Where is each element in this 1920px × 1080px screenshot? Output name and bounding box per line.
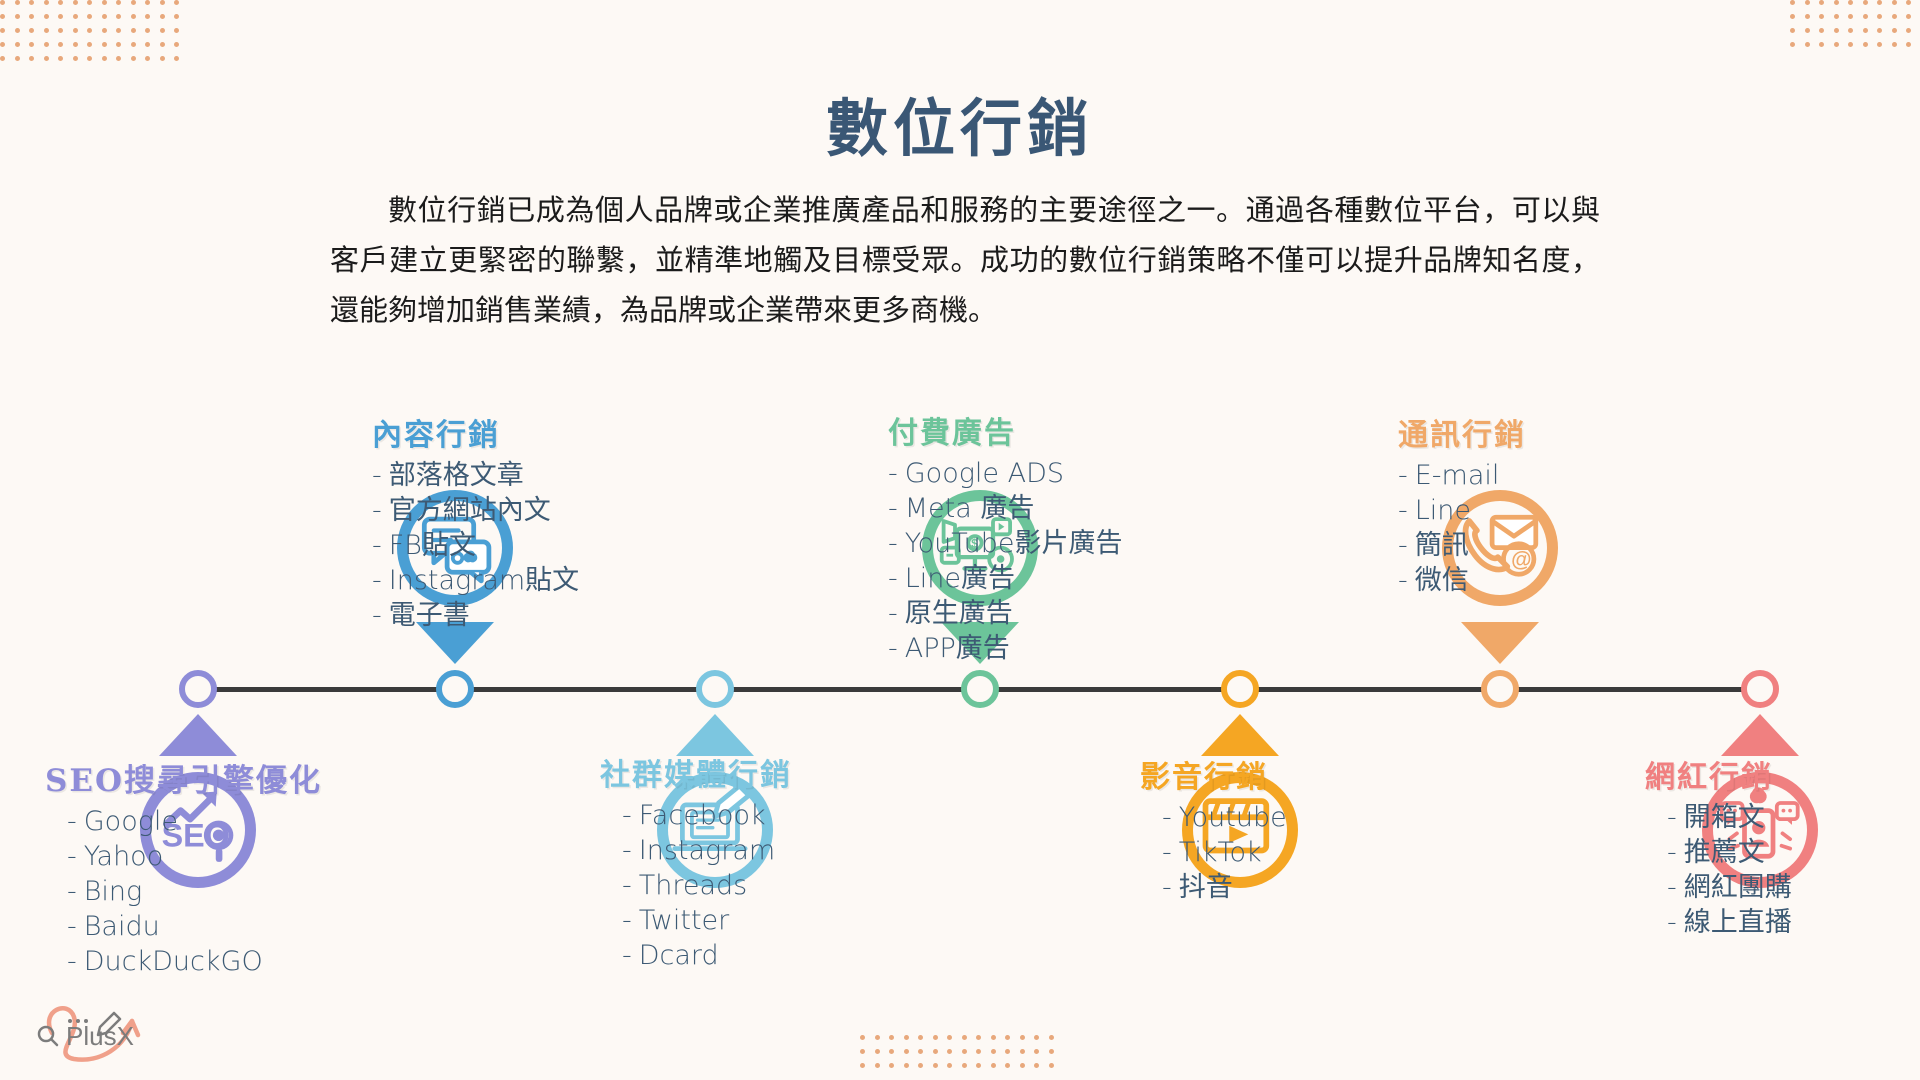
decorative-dot	[44, 0, 49, 5]
decorative-dot	[116, 42, 121, 47]
bullet-dash: -	[372, 460, 382, 491]
decorative-dot	[44, 42, 49, 47]
node-list-seo: -Google-Yahoo-Bing-Baidu-DuckDuckGO	[45, 804, 322, 979]
node-block-paid: 付費廣告-Google ADS-Meta 廣告-YouTube影片廣告-Line…	[888, 408, 1123, 666]
node-heading-influencer: 網紅行銷	[1645, 752, 1792, 796]
list-item: -TikTok	[1162, 835, 1287, 870]
list-item-label: Baidu	[84, 911, 160, 942]
decorative-dot	[1819, 28, 1824, 33]
list-item: -原生廣告	[888, 596, 1123, 631]
bullet-dash: -	[372, 565, 382, 596]
decorative-dot	[102, 42, 107, 47]
node-block-content: 內容行銷-部落格文章-官方網站內文-FB貼文-Instagram貼文-電子書	[372, 410, 579, 633]
decorative-dot	[1805, 28, 1810, 33]
decorative-dot	[44, 56, 49, 61]
list-item-label: 線上直播	[1684, 907, 1792, 938]
decorative-dot	[102, 28, 107, 33]
decorative-dot	[904, 1063, 909, 1068]
decorative-dot	[44, 28, 49, 33]
list-item-label: DuckDuckGO	[84, 946, 263, 977]
decorative-dot	[145, 28, 150, 33]
decorative-dot	[87, 14, 92, 19]
decorative-dot	[58, 28, 63, 33]
pluxs-logo: PlusX	[22, 985, 162, 1065]
list-item: -Google ADS	[888, 456, 1123, 491]
list-item: -抖音	[1162, 870, 1287, 905]
decorative-dot	[44, 14, 49, 19]
decorative-dot	[1834, 28, 1839, 33]
decorative-dot	[160, 42, 165, 47]
bullet-dash: -	[622, 835, 632, 866]
decorative-dot	[1020, 1049, 1025, 1054]
decorative-dot	[58, 56, 63, 61]
decorative-dot	[0, 42, 5, 47]
decorative-dot	[174, 28, 179, 33]
decorative-dot	[991, 1063, 996, 1068]
list-item-label: Bing	[84, 876, 143, 907]
decorative-dot	[1863, 0, 1868, 5]
list-item-label: 開箱文	[1684, 802, 1765, 833]
bullet-dash: -	[67, 876, 77, 907]
list-item-label: Facebook	[639, 800, 766, 831]
node-heading-video: 影音行銷	[1140, 752, 1287, 796]
node-heading-content: 內容行銷	[372, 410, 579, 454]
decorative-dot	[1906, 42, 1911, 47]
decorative-dot	[73, 0, 78, 5]
bullet-dash: -	[372, 530, 382, 561]
page-title: 數位行銷	[0, 78, 1920, 168]
decorative-dot	[174, 56, 179, 61]
list-item-label: 抖音	[1179, 872, 1233, 903]
axis-dot-paid[interactable]	[961, 670, 999, 708]
decorative-dot	[1819, 0, 1824, 5]
decorative-dot	[87, 56, 92, 61]
node-heading-seo: SEO搜尋引擎優化	[45, 755, 322, 800]
node-list-video: -Youtube-TikTok-抖音	[1140, 800, 1287, 905]
decorative-dot	[933, 1049, 938, 1054]
decorative-dot	[29, 42, 34, 47]
decorative-dot	[15, 28, 20, 33]
list-item: -Dcard	[622, 938, 792, 973]
decorative-dot	[87, 28, 92, 33]
node-heading-social: 社群媒體行銷	[600, 750, 792, 794]
decorative-dot	[102, 0, 107, 5]
list-item: -官方網站內文	[372, 493, 579, 528]
decorative-dot	[0, 56, 5, 61]
decorative-dot	[1834, 0, 1839, 5]
decorative-dot	[1834, 14, 1839, 19]
decorative-dot	[160, 14, 165, 19]
decorative-dot	[0, 14, 5, 19]
list-item-label: E-mail	[1415, 460, 1500, 491]
decorative-dot	[976, 1035, 981, 1040]
node-block-video: 影音行銷-Youtube-TikTok-抖音	[1140, 752, 1287, 905]
bullet-dash: -	[372, 600, 382, 631]
list-item-label: Line	[1415, 495, 1471, 526]
decorative-dot	[0, 0, 5, 5]
decorative-dot	[1005, 1063, 1010, 1068]
list-item-label: FB貼文	[389, 530, 476, 561]
decorative-dot	[87, 42, 92, 47]
list-item: -Threads	[622, 868, 792, 903]
decorative-dot	[1863, 14, 1868, 19]
bullet-dash: -	[1398, 565, 1408, 596]
list-item: -Yahoo	[67, 839, 322, 874]
decorative-dot	[1034, 1049, 1039, 1054]
bullet-dash: -	[888, 598, 898, 629]
bullet-dash: -	[1667, 802, 1677, 833]
decorative-dot	[1819, 42, 1824, 47]
list-item: -Instagram	[622, 833, 792, 868]
bullet-dash: -	[888, 458, 898, 489]
list-item: -Facebook	[622, 798, 792, 833]
decorative-dot	[1805, 14, 1810, 19]
decorative-dot	[131, 0, 136, 5]
decorative-dot	[1892, 14, 1897, 19]
bullet-dash: -	[622, 870, 632, 901]
decorative-dot	[1877, 0, 1882, 5]
list-item-label: Dcard	[639, 940, 719, 971]
list-item-label: Instagram貼文	[389, 565, 579, 596]
bullet-dash: -	[622, 940, 632, 971]
decorative-dot	[73, 42, 78, 47]
decorative-dot	[962, 1049, 967, 1054]
decorative-dot	[1020, 1063, 1025, 1068]
decorative-dot	[131, 28, 136, 33]
decorative-dot	[918, 1035, 923, 1040]
decorative-dot	[1049, 1049, 1054, 1054]
decorative-dot	[1906, 14, 1911, 19]
list-item-label: 簡訊	[1415, 530, 1469, 561]
decorative-dot	[875, 1035, 880, 1040]
decorative-dot	[58, 14, 63, 19]
list-item: -開箱文	[1667, 800, 1792, 835]
list-item: -E-mail	[1398, 458, 1526, 493]
decorative-dot	[15, 14, 20, 19]
decorative-dot	[73, 14, 78, 19]
bullet-dash: -	[1667, 872, 1677, 903]
decorative-dot	[160, 28, 165, 33]
node-block-social: 社群媒體行銷-Facebook-Instagram-Threads-Twitte…	[600, 750, 792, 973]
list-item: -Line廣告	[888, 561, 1123, 596]
decorative-dot	[918, 1049, 923, 1054]
list-item-label: Instagram	[639, 835, 775, 866]
decorative-dot	[1005, 1035, 1010, 1040]
decorative-dot	[933, 1035, 938, 1040]
intro-paragraph: 數位行銷已成為個人品牌或企業推廣產品和服務的主要途徑之一。通過各種數位平台，可以…	[330, 185, 1600, 335]
node-list-influencer: -開箱文-推薦文-網紅團購-線上直播	[1645, 800, 1792, 940]
list-item-label: APP廣告	[905, 633, 1010, 664]
list-item: -Meta 廣告	[888, 491, 1123, 526]
bullet-dash: -	[1398, 495, 1408, 526]
list-item: -Bing	[67, 874, 322, 909]
list-item-label: Yahoo	[84, 841, 163, 872]
decorative-dot	[1790, 28, 1795, 33]
list-item: -簡訊	[1398, 528, 1526, 563]
decorative-dot	[174, 14, 179, 19]
node-heading-paid: 付費廣告	[888, 408, 1123, 452]
list-item-label: 網紅團購	[1684, 872, 1792, 903]
decorative-dot	[1790, 14, 1795, 19]
list-item: -微信	[1398, 563, 1526, 598]
node-block-seo: SEO搜尋引擎優化-Google-Yahoo-Bing-Baidu-DuckDu…	[45, 755, 322, 979]
node-list-content: -部落格文章-官方網站內文-FB貼文-Instagram貼文-電子書	[372, 458, 579, 633]
axis-dot-video[interactable]	[1221, 670, 1259, 708]
decorative-dot	[1034, 1035, 1039, 1040]
decorative-dot	[116, 56, 121, 61]
decorative-dot	[15, 0, 20, 5]
decorative-dot	[947, 1035, 952, 1040]
node-block-messaging: 通訊行銷-E-mail-Line-簡訊-微信	[1398, 410, 1526, 598]
dot-grid-bottom	[860, 1035, 1060, 1080]
decorative-dot	[102, 56, 107, 61]
decorative-dot	[29, 56, 34, 61]
bullet-dash: -	[1667, 907, 1677, 938]
decorative-dot	[145, 56, 150, 61]
list-item: -Instagram貼文	[372, 563, 579, 598]
decorative-dot	[962, 1035, 967, 1040]
list-item-label: 原生廣告	[905, 598, 1013, 629]
axis-dot-social[interactable]	[696, 670, 734, 708]
decorative-dot	[976, 1063, 981, 1068]
decorative-dot	[1005, 1049, 1010, 1054]
node-heading-messaging: 通訊行銷	[1398, 410, 1526, 454]
decorative-dot	[58, 0, 63, 5]
decorative-dot	[87, 0, 92, 5]
decorative-dot	[1790, 0, 1795, 5]
decorative-dot	[1863, 28, 1868, 33]
bullet-dash: -	[888, 633, 898, 664]
list-item: -Youtube	[1162, 800, 1287, 835]
decorative-dot	[145, 0, 150, 5]
decorative-dot	[860, 1063, 865, 1068]
decorative-dot	[962, 1063, 967, 1068]
list-item: -Baidu	[67, 909, 322, 944]
list-item-label: TikTok	[1179, 837, 1262, 868]
list-item-label: 微信	[1415, 565, 1469, 596]
list-item-label: YouTube影片廣告	[905, 528, 1123, 559]
decorative-dot	[116, 0, 121, 5]
list-item-label: 推薦文	[1684, 837, 1765, 868]
list-item: -Line	[1398, 493, 1526, 528]
decorative-dot	[1034, 1063, 1039, 1068]
decorative-dot	[29, 28, 34, 33]
decorative-dot	[918, 1063, 923, 1068]
decorative-dot	[889, 1035, 894, 1040]
decorative-dot	[1892, 28, 1897, 33]
axis-dot-seo[interactable]	[179, 670, 217, 708]
decorative-dot	[29, 0, 34, 5]
decorative-dot	[1906, 28, 1911, 33]
decorative-dot	[947, 1063, 952, 1068]
list-item: -Google	[67, 804, 322, 839]
bullet-dash: -	[888, 563, 898, 594]
list-item: -YouTube影片廣告	[888, 526, 1123, 561]
bullet-dash: -	[622, 800, 632, 831]
list-item: -APP廣告	[888, 631, 1123, 666]
list-item: -DuckDuckGO	[67, 944, 322, 979]
decorative-dot	[58, 42, 63, 47]
decorative-dot	[73, 28, 78, 33]
decorative-dot	[29, 14, 34, 19]
decorative-dot	[15, 42, 20, 47]
decorative-dot	[1805, 42, 1810, 47]
bullet-dash: -	[622, 905, 632, 936]
decorative-dot	[15, 56, 20, 61]
decorative-dot	[1906, 0, 1911, 5]
bullet-dash: -	[1162, 802, 1172, 833]
list-item-label: Threads	[639, 870, 747, 901]
bullet-dash: -	[1398, 460, 1408, 491]
list-item: -電子書	[372, 598, 579, 633]
bullet-dash: -	[67, 946, 77, 977]
bullet-dash: -	[1667, 837, 1677, 868]
logo-text: PlusX	[66, 1021, 134, 1051]
decorative-dot	[1819, 14, 1824, 19]
decorative-dot	[1863, 42, 1868, 47]
list-item: -FB貼文	[372, 528, 579, 563]
decorative-dot	[875, 1049, 880, 1054]
decorative-dot	[1877, 14, 1882, 19]
dot-grid-top-left	[0, 0, 190, 70]
decorative-dot	[131, 42, 136, 47]
list-item: -網紅團購	[1667, 870, 1792, 905]
list-item-label: 電子書	[389, 600, 470, 631]
node-block-influencer: 網紅行銷-開箱文-推薦文-網紅團購-線上直播	[1645, 752, 1792, 940]
decorative-dot	[889, 1063, 894, 1068]
node-list-social: -Facebook-Instagram-Threads-Twitter-Dcar…	[600, 798, 792, 973]
bullet-dash: -	[888, 493, 898, 524]
axis-dot-influencer[interactable]	[1741, 670, 1779, 708]
bullet-dash: -	[1398, 530, 1408, 561]
decorative-dot	[160, 0, 165, 5]
bullet-dash: -	[67, 806, 77, 837]
decorative-dot	[875, 1063, 880, 1068]
list-item-label: Meta 廣告	[905, 493, 1035, 524]
list-item-label: Line廣告	[905, 563, 1015, 594]
bullet-dash: -	[888, 528, 898, 559]
decorative-dot	[145, 42, 150, 47]
decorative-dot	[116, 14, 121, 19]
decorative-dot	[1049, 1063, 1054, 1068]
decorative-dot	[1049, 1035, 1054, 1040]
list-item-label: Google ADS	[905, 458, 1064, 489]
decorative-dot	[1805, 0, 1810, 5]
decorative-dot	[1848, 14, 1853, 19]
bullet-dash: -	[372, 495, 382, 526]
decorative-dot	[904, 1049, 909, 1054]
bullet-dash: -	[67, 911, 77, 942]
decorative-dot	[991, 1035, 996, 1040]
decorative-dot	[116, 28, 121, 33]
decorative-dot	[1790, 42, 1795, 47]
decorative-dot	[860, 1049, 865, 1054]
decorative-dot	[889, 1049, 894, 1054]
list-item-label: Twitter	[639, 905, 730, 936]
list-item-label: Youtube	[1179, 802, 1287, 833]
list-item: -Twitter	[622, 903, 792, 938]
bullet-dash: -	[1162, 837, 1172, 868]
list-item: -部落格文章	[372, 458, 579, 493]
decorative-dot	[1877, 42, 1882, 47]
bullet-dash: -	[1162, 872, 1172, 903]
list-item-label: 官方網站內文	[389, 495, 551, 526]
decorative-dot	[904, 1035, 909, 1040]
decorative-dot	[102, 14, 107, 19]
decorative-dot	[947, 1049, 952, 1054]
decorative-dot	[1848, 42, 1853, 47]
decorative-dot	[145, 14, 150, 19]
decorative-dot	[174, 42, 179, 47]
decorative-dot	[174, 0, 179, 5]
bullet-dash: -	[67, 841, 77, 872]
dot-grid-top-right	[1790, 0, 1920, 60]
axis-dot-content[interactable]	[436, 670, 474, 708]
decorative-dot	[160, 56, 165, 61]
decorative-dot	[1848, 28, 1853, 33]
list-item-label: 部落格文章	[389, 460, 524, 491]
decorative-dot	[1834, 42, 1839, 47]
node-list-paid: -Google ADS-Meta 廣告-YouTube影片廣告-Line廣告-原…	[888, 456, 1123, 666]
decorative-dot	[860, 1035, 865, 1040]
decorative-dot	[131, 14, 136, 19]
decorative-dot	[991, 1049, 996, 1054]
decorative-dot	[73, 56, 78, 61]
list-item: -線上直播	[1667, 905, 1792, 940]
decorative-dot	[1848, 0, 1853, 5]
list-item: -推薦文	[1667, 835, 1792, 870]
node-list-messaging: -E-mail-Line-簡訊-微信	[1398, 458, 1526, 598]
decorative-dot	[1020, 1035, 1025, 1040]
decorative-dot	[1892, 42, 1897, 47]
decorative-dot	[0, 28, 5, 33]
decorative-dot	[1877, 28, 1882, 33]
list-item-label: Google	[84, 806, 178, 837]
decorative-dot	[1892, 0, 1897, 5]
decorative-dot	[933, 1063, 938, 1068]
axis-dot-messaging[interactable]	[1481, 670, 1519, 708]
decorative-dot	[131, 56, 136, 61]
decorative-dot	[976, 1049, 981, 1054]
